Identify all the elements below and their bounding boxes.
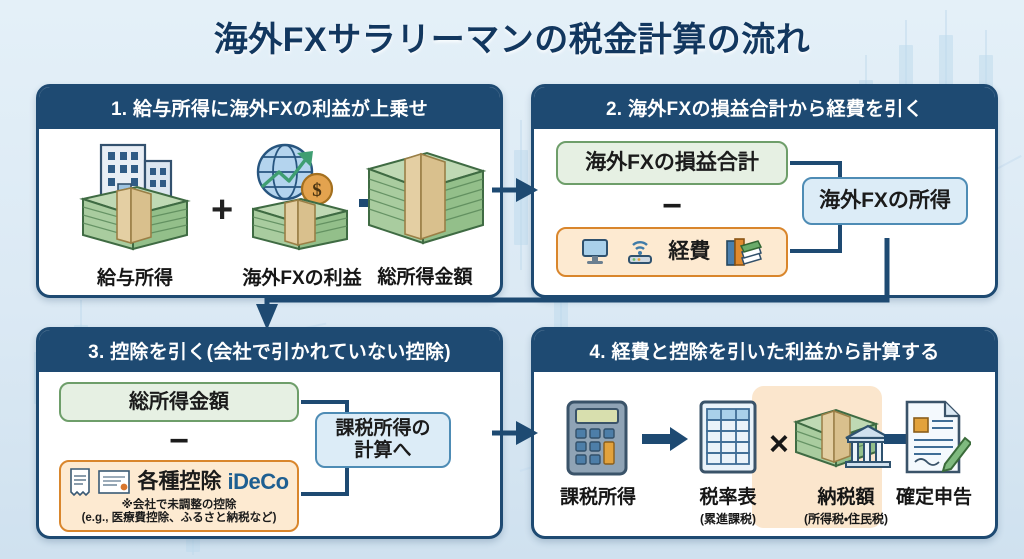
calculator-icon [562,398,634,478]
expenses-box: 経費 [556,227,788,277]
fx-income-result-box: 海外FXの所得 [802,177,968,225]
deductions-note-line-2: (e.g., 医療費控除、ふるさと納税など) [82,512,277,525]
panel-step-2: 2. 海外FXの損益合計から経費を引く 海外FXの損益合計 − [531,84,998,298]
item-caption: 税率表 [680,482,776,509]
fx-income-result-label: 海外FXの所得 [819,189,951,213]
page-title: 海外FXサラリーマンの税金計算の流れ [0,12,1024,61]
router-wifi-icon [626,237,654,267]
large-cash-stack-icon [355,133,495,253]
svg-text:$: $ [312,180,322,201]
books-icon [725,236,763,268]
item-taxable-income: 課税所得 [550,398,646,509]
panel-4-body: 課税所得 [534,372,995,539]
minus-operator: − [59,424,299,458]
panel-2-body: 海外FXの損益合計 − 経費 [534,129,995,298]
panel-2-header: 2. 海外FXの損益合計から経費を引く [534,87,995,129]
panel-4-header: 4. 経費と控除を引いた利益から計算する [534,330,995,372]
item-tax-return-filing: 確定申告 [882,398,986,509]
panel-step-4: 4. 経費と控除を引いた利益から計算する [531,327,998,539]
taxable-income-calc-label-line-2: 計算へ [354,440,411,462]
deductions-box: 各種控除 iDeCo ※会社で未調整の控除 (e.g., 医療費控除、ふるさと納… [59,460,299,532]
tax-table-icon [695,398,761,478]
panel-3-body: 総所得金額 − 各種控除 iDeCo ※会社で [39,372,500,539]
minus-operator: − [556,189,788,223]
taxable-income-calc-box: 課税所得の 計算へ [315,412,451,468]
item-total-income: 総所得金額 [355,133,495,289]
office-building-and-cash-icon [65,139,205,254]
total-income-box: 総所得金額 [59,382,299,422]
item-caption: 給与所得 [65,263,205,290]
total-income-label: 総所得金額 [129,391,229,414]
monitor-icon [581,237,611,267]
panel-3-header: 3. 控除を引く(会社で引かれていない控除) [39,330,500,372]
panel-step-3: 3. 控除を引く(会社で引かれていない控除) 総所得金額 − [36,327,503,539]
item-caption: 課税所得 [550,482,646,509]
panel-1-body: 給与所得 + $ [39,129,500,298]
tax-return-document-icon [897,398,971,478]
deductions-note-line-1: ※会社で未調整の控除 [122,499,237,512]
item-tax-rate-table: 税率表 (累進課税) [680,398,776,527]
panel-1-header: 1. 給与所得に海外FXの利益が上乗せ [39,87,500,129]
deductions-label: 各種控除 [137,470,221,494]
certificate-icon [97,469,131,495]
taxable-income-calc-label-line-1: 課税所得の [335,418,430,440]
item-salary-income: 給与所得 [65,139,205,290]
panel-step-1: 1. 給与所得に海外FXの利益が上乗せ [36,84,503,298]
item-caption: 総所得金額 [355,262,495,289]
expenses-label: 経費 [668,240,710,264]
item-subcaption: (所得税・住民税) [788,510,904,527]
item-caption: 確定申告 [882,482,986,509]
multiply-operator: × [769,427,789,461]
fx-profit-loss-total-label: 海外FXの損益合計 [585,151,759,175]
infographic-canvas: 海外FXサラリーマンの税金計算の流れ 1. 給与所得に海外FXの利益が上乗せ [0,0,1024,559]
ideco-brand-label: iDeCo [227,469,288,494]
item-subcaption: (累進課税) [680,510,776,527]
fx-profit-loss-total-box: 海外FXの損益合計 [556,141,788,185]
receipt-icon [69,467,91,497]
